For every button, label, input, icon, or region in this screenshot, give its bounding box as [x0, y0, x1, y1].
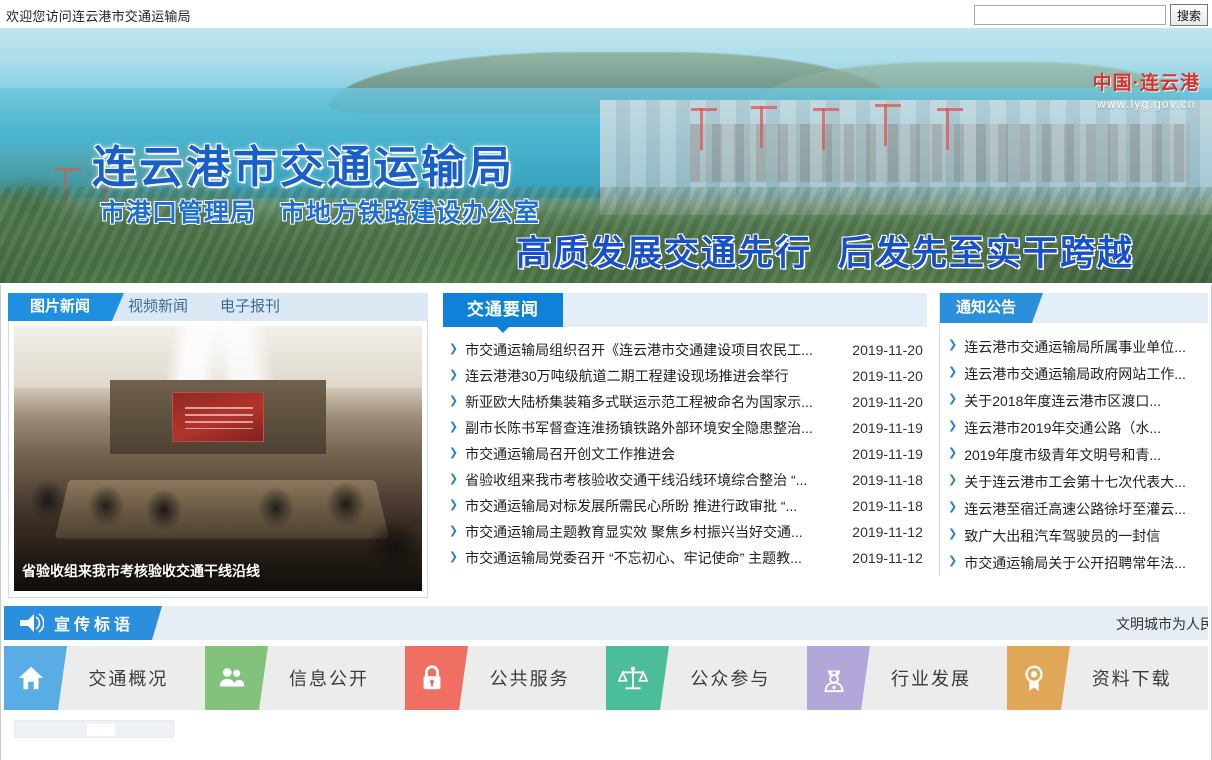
- notice-item-title: 连云港市交通运输局政府网站工作...: [964, 364, 1204, 384]
- nav-item-info-disclosure[interactable]: 信息公开: [205, 646, 406, 710]
- news-item-date: 2019-11-19: [841, 420, 923, 436]
- featured-photo[interactable]: [14, 326, 422, 591]
- news-list-item[interactable]: ❯ 新亚欧大陆桥集装箱多式联运示范工程被命名为国家示... 2019-11-20: [445, 389, 923, 415]
- notice-item-title: 2019年度市级青年文明号和青...: [964, 445, 1204, 465]
- page-root: 欢迎您访问连云港市交通运输局 搜索 连云港市交通运输局 市港口管理局市地方铁路建…: [0, 0, 1212, 760]
- notice-panel-header: 通知公告: [940, 293, 1208, 323]
- chevron-right-icon: ❯: [948, 340, 957, 351]
- chevron-right-icon: ❯: [948, 421, 957, 432]
- chevron-right-icon: ❯: [449, 526, 458, 537]
- slogan-marquee-text: 文明城市为人民: [1116, 614, 1208, 634]
- chevron-right-icon: ❯: [948, 475, 957, 486]
- tab-notices[interactable]: 通知公告: [940, 293, 1032, 323]
- medal-icon: [1007, 646, 1061, 710]
- notice-list-item[interactable]: ❯ 致广大出租汽车驾驶员的一封信: [944, 522, 1204, 549]
- news-item-date: 2019-11-20: [841, 368, 923, 384]
- notice-list-item[interactable]: ❯ 连云港市2019年交通公路（水...: [944, 414, 1204, 441]
- port-crane-icon: [700, 108, 703, 150]
- notice-list-item[interactable]: ❯ 连云港至宿迁高速公路徐圩至灌云...: [944, 495, 1204, 522]
- news-item-date: 2019-11-20: [841, 394, 923, 410]
- chevron-right-icon: ❯: [948, 556, 957, 567]
- notice-item-title: 关于连云港市工会第十七次代表大...: [964, 472, 1204, 492]
- site-subtitle: 市港口管理局市地方铁路建设办公室: [100, 193, 564, 229]
- search-input[interactable]: [974, 5, 1166, 25]
- notice-list-item[interactable]: ❯ 2019年度市级青年文明号和青...: [944, 441, 1204, 468]
- notice-item-title: 连云港至宿迁高速公路徐圩至灌云...: [964, 499, 1204, 519]
- chevron-right-icon: ❯: [948, 529, 957, 540]
- chevron-right-icon: ❯: [948, 502, 957, 513]
- city-logo[interactable]: 中国·连云港 www.lyg.gov.cn: [1093, 68, 1200, 111]
- people-icon: [205, 646, 259, 710]
- chevron-right-icon: ❯: [449, 396, 458, 407]
- bottom-nav: 交通概况 信息公开: [4, 646, 1208, 710]
- news-list: ❯ 市交通运输局组织召开《连云港市交通建设项目农民工... 2019-11-20…: [443, 327, 927, 571]
- news-column: 交通要闻 ❯ 市交通运输局组织召开《连云港市交通建设项目农民工... 2019-…: [443, 293, 927, 571]
- chevron-right-icon: ❯: [948, 448, 957, 459]
- site-subtitle-2: 市地方铁路建设办公室: [280, 199, 540, 227]
- slogan-label-text: 宣传标语: [54, 611, 134, 635]
- nav-item-label: 信息公开: [259, 665, 406, 691]
- port-crane-icon: [760, 106, 763, 148]
- nav-item-label: 交通概况: [58, 665, 205, 691]
- news-list-item[interactable]: ❯ 市交通运输局党委召开 “不忘初心、牢记使命” 主题教... 2019-11-…: [445, 545, 923, 571]
- port-cargo-yard: [690, 124, 1190, 182]
- nav-item-downloads[interactable]: 资料下载: [1007, 646, 1208, 710]
- main-content: 图片新闻 视频新闻 电子报刊 省验收组来我市考核验收交通干线沿线: [0, 283, 1212, 738]
- news-item-title: 连云港港30万吨级航道二期工程建设现场推进会举行: [465, 366, 841, 386]
- notice-column: 通知公告 ❯ 连云港市交通运输局所属事业单位... ❯ 连云港市交通运输局政府网…: [939, 293, 1208, 576]
- site-subtitle-1: 市港口管理局: [100, 199, 256, 227]
- photo-ceiling: [14, 326, 422, 388]
- top-bar: 欢迎您访问连云港市交通运输局 搜索: [0, 0, 1212, 28]
- news-item-title: 市交通运输局对标发展所需民心所盼 推进行政审批 “...: [465, 496, 841, 516]
- port-crane-icon: [822, 108, 825, 150]
- news-item-title: 省验收组来我市考核验收交通干线沿线环境综合整治 “...: [465, 470, 841, 490]
- nav-item-label: 公众参与: [660, 665, 807, 691]
- news-item-date: 2019-11-19: [841, 446, 923, 462]
- slogan-marquee: 文明城市为人民: [152, 606, 1208, 640]
- chevron-right-icon: ❯: [948, 394, 957, 405]
- tab-picture-news[interactable]: 图片新闻: [8, 293, 112, 321]
- chevron-right-icon: ❯: [449, 448, 458, 459]
- slogan-bar: 宣传标语 文明城市为人民: [4, 606, 1208, 640]
- news-list-item[interactable]: ❯ 市交通运输局组织召开《连云港市交通建设项目农民工... 2019-11-20: [445, 337, 923, 363]
- news-item-date: 2019-11-18: [841, 498, 923, 514]
- notice-list-item[interactable]: ❯ 市交通运输局关于公开招聘常年法...: [944, 549, 1204, 576]
- news-panel-header: 交通要闻: [443, 293, 927, 327]
- nav-item-label: 公共服务: [459, 665, 606, 691]
- chevron-right-icon: ❯: [449, 474, 458, 485]
- picture-news-frame[interactable]: 省验收组来我市考核验收交通干线沿线: [8, 321, 428, 598]
- notice-item-title: 连云港市2019年交通公路（水...: [964, 418, 1204, 438]
- notice-list-item[interactable]: ❯ 关于连云港市工会第十七次代表大...: [944, 468, 1204, 495]
- tab-video-news[interactable]: 视频新闻: [112, 293, 204, 321]
- news-item-date: 2019-11-20: [841, 342, 923, 358]
- hero-banner: 连云港市交通运输局 市港口管理局市地方铁路建设办公室 高质发展交通先行后发先至实…: [0, 28, 1212, 283]
- welcome-text: 欢迎您访问连云港市交通运输局: [6, 6, 191, 25]
- picture-news-tabs: 图片新闻 视频新闻 电子报刊: [8, 293, 428, 321]
- notice-list-item[interactable]: ❯ 关于2018年度连云港市区渡口...: [944, 387, 1204, 414]
- nav-item-public-participation[interactable]: 公众参与: [606, 646, 807, 710]
- page-left-border: [0, 285, 1, 760]
- search-area: 搜索: [974, 4, 1208, 26]
- featured-photo-caption: 省验收组来我市考核验收交通干线沿线: [14, 557, 422, 585]
- news-item-date: 2019-11-18: [841, 472, 923, 488]
- nav-item-label: 资料下载: [1061, 665, 1208, 691]
- news-item-title: 市交通运输局主题教育显实效 聚焦乡村振兴当好交通...: [465, 522, 841, 542]
- notice-item-title: 关于2018年度连云港市区渡口...: [964, 391, 1204, 411]
- footer-placeholder: [14, 720, 174, 738]
- news-list-item[interactable]: ❯ 市交通运输局召开创文工作推进会 2019-11-19: [445, 441, 923, 467]
- news-item-date: 2019-11-12: [841, 524, 923, 540]
- chevron-right-icon: ❯: [449, 370, 458, 381]
- search-button[interactable]: 搜索: [1170, 4, 1208, 26]
- news-item-title: 市交通运输局党委召开 “不忘初心、牢记使命” 主题教...: [465, 548, 841, 568]
- chevron-right-icon: ❯: [449, 422, 458, 433]
- news-item-title: 副市长陈书军督查连淮扬镇铁路外部环境安全隐患整治...: [465, 418, 841, 438]
- tab-epaper[interactable]: 电子报刊: [204, 293, 296, 321]
- city-logo-title: 中国·连云港: [1093, 68, 1200, 95]
- news-item-title: 市交通运输局召开创文工作推进会: [465, 444, 841, 464]
- port-crane-icon: [884, 104, 887, 146]
- news-item-title: 市交通运输局组织召开《连云港市交通建设项目农民工...: [465, 340, 841, 360]
- hero-slogan-1: 高质发展交通先行: [516, 234, 812, 273]
- news-list-item[interactable]: ❯ 市交通运输局主题教育显实效 聚焦乡村振兴当好交通... 2019-11-12: [445, 519, 923, 545]
- chevron-right-icon: ❯: [948, 367, 957, 378]
- news-list-item[interactable]: ❯ 连云港港30万吨级航道二期工程建设现场推进会举行 2019-11-20: [445, 363, 923, 389]
- notice-item-title: 连云港市交通运输局所属事业单位...: [964, 337, 1204, 357]
- chevron-right-icon: ❯: [449, 500, 458, 511]
- slogan-label: 宣传标语: [4, 606, 152, 640]
- news-item-date: 2019-11-12: [841, 550, 923, 566]
- nav-item-industry-development[interactable]: 行业发展: [807, 646, 1008, 710]
- home-icon: [4, 646, 58, 710]
- picture-news-column: 图片新闻 视频新闻 电子报刊 省验收组来我市考核验收交通干线沿线: [8, 293, 433, 598]
- nav-item-traffic-overview[interactable]: 交通概况: [4, 646, 205, 710]
- content-columns: 图片新闻 视频新闻 电子报刊 省验收组来我市考核验收交通干线沿线: [0, 283, 1212, 598]
- news-list-item[interactable]: ❯ 省验收组来我市考核验收交通干线沿线环境综合整治 “... 2019-11-1…: [445, 467, 923, 493]
- city-logo-url: www.lyg.gov.cn: [1093, 97, 1200, 111]
- nav-item-public-service[interactable]: 公共服务: [405, 646, 606, 710]
- nav-item-label: 行业发展: [861, 665, 1008, 691]
- notice-list-item[interactable]: ❯ 连云港市交通运输局所属事业单位...: [944, 333, 1204, 360]
- port-crane-icon: [946, 108, 949, 150]
- notice-list-item[interactable]: ❯ 连云港市交通运输局政府网站工作...: [944, 360, 1204, 387]
- news-list-item[interactable]: ❯ 市交通运输局对标发展所需民心所盼 推进行政审批 “... 2019-11-1…: [445, 493, 923, 519]
- nurse-icon: [807, 646, 861, 710]
- chevron-right-icon: ❯: [449, 552, 458, 563]
- news-list-item[interactable]: ❯ 副市长陈书军督查连淮扬镇铁路外部环境安全隐患整治... 2019-11-19: [445, 415, 923, 441]
- hero-slogan: 高质发展交通先行后发先至实干跨越: [516, 225, 1134, 276]
- photo-banner-screen: [172, 392, 264, 442]
- scales-icon: [606, 646, 660, 710]
- notice-list: ❯ 连云港市交通运输局所属事业单位... ❯ 连云港市交通运输局政府网站工作..…: [940, 323, 1208, 576]
- chevron-right-icon: ❯: [449, 344, 458, 355]
- site-title: 连云港市交通运输局: [92, 131, 515, 195]
- news-item-title: 新亚欧大陆桥集装箱多式联运示范工程被命名为国家示...: [465, 392, 841, 412]
- hero-slogan-2: 后发先至实干跨越: [838, 234, 1134, 273]
- notice-item-title: 市交通运输局关于公开招聘常年法...: [964, 553, 1204, 573]
- lock-icon: [405, 646, 459, 710]
- notice-item-title: 致广大出租汽车驾驶员的一封信: [964, 526, 1204, 546]
- tab-traffic-news[interactable]: 交通要闻: [443, 293, 563, 327]
- megaphone-icon: [18, 612, 44, 634]
